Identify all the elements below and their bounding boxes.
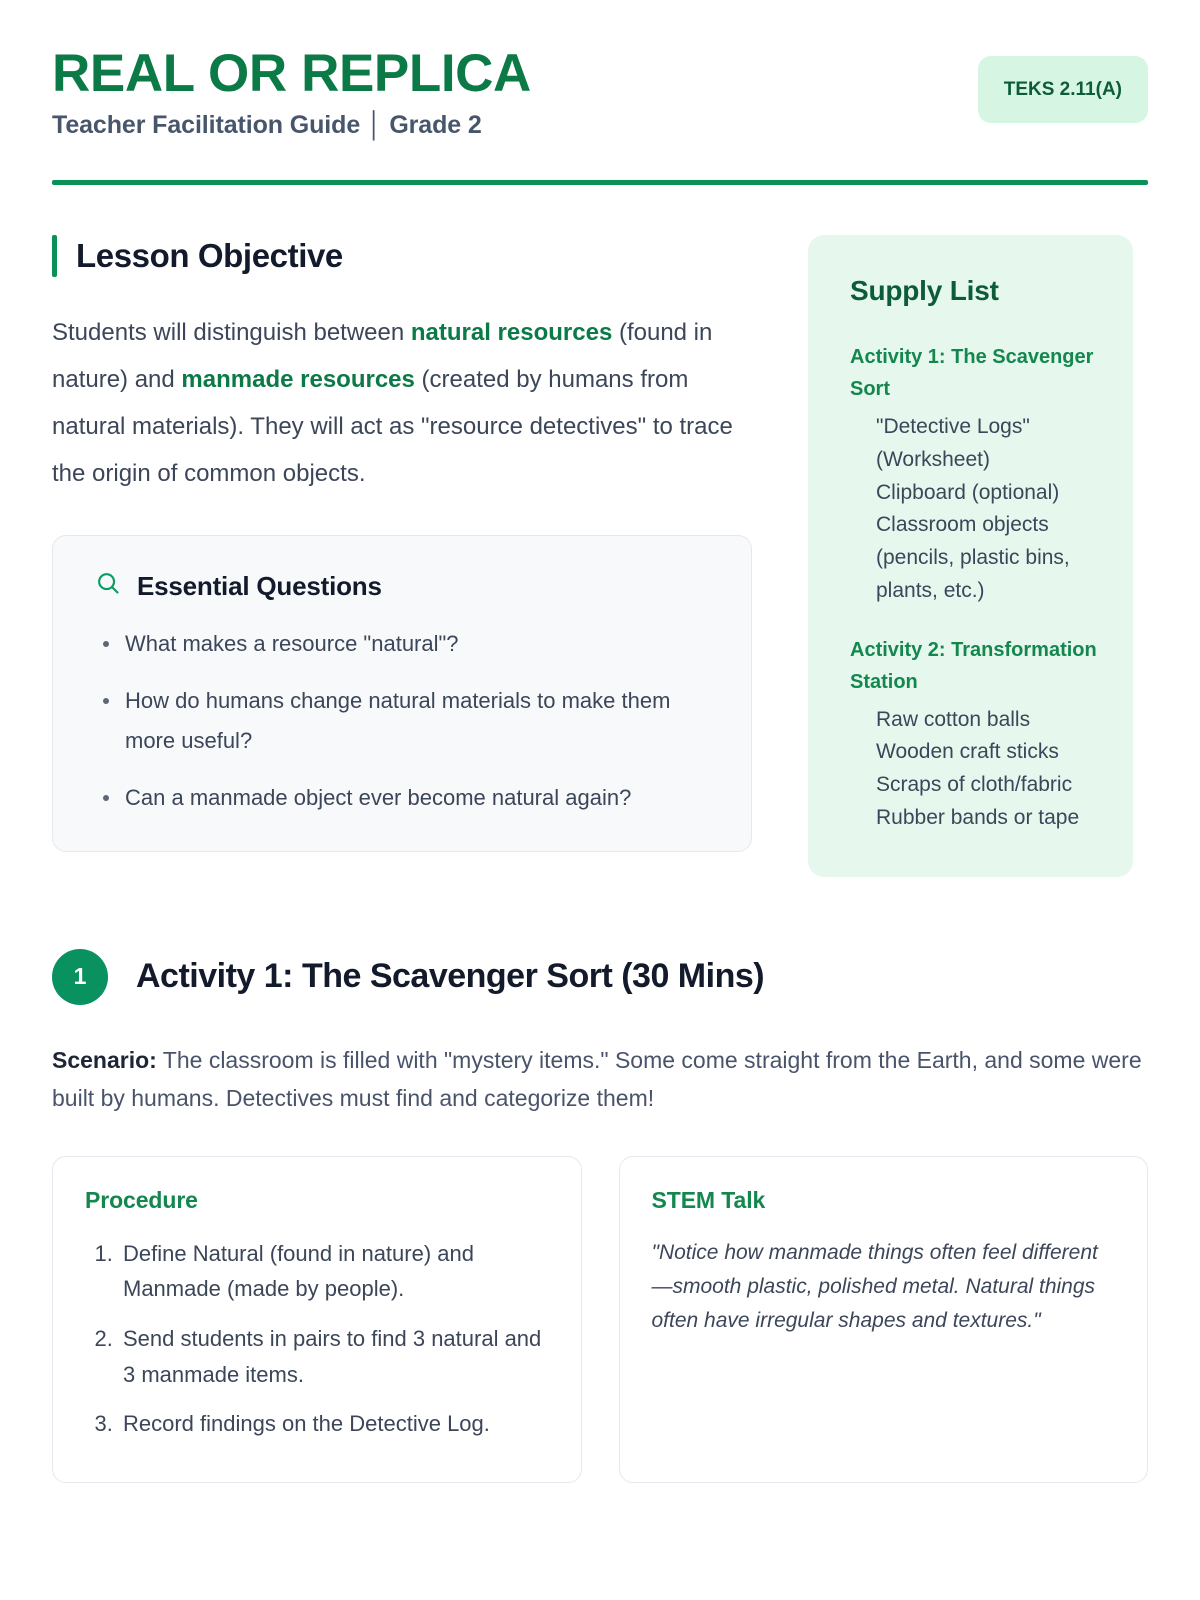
activity-1-header: 1 Activity 1: The Scavenger Sort (30 Min…: [52, 949, 1148, 1005]
supply-list-title: Supply List: [850, 275, 1103, 307]
document-page: REAL OR REPLICA Teacher Facilitation Gui…: [0, 0, 1200, 1600]
stem-talk-card: STEM Talk "Notice how manmade things oft…: [619, 1156, 1149, 1483]
stem-talk-quote: "Notice how manmade things often feel di…: [652, 1236, 1116, 1338]
list-item: Send students in pairs to find 3 natural…: [119, 1321, 549, 1392]
list-item: Classroom objects (pencils, plastic bins…: [876, 509, 1103, 607]
list-item: How do humans change natural materials t…: [125, 681, 715, 759]
activity-scenario: Scenario: The classroom is filled with "…: [52, 1041, 1148, 1118]
supply-list-card: Supply List Activity 1: The Scavenger So…: [808, 235, 1133, 877]
essential-questions-title: Essential Questions: [137, 571, 382, 602]
supply-group: Activity 1: The Scavenger Sort "Detectiv…: [850, 341, 1103, 608]
list-item: Can a manmade object ever become natural…: [125, 778, 715, 817]
essential-questions-header: Essential Questions: [95, 570, 715, 602]
stem-talk-title: STEM Talk: [652, 1187, 1116, 1214]
list-item: "Detective Logs" (Worksheet): [876, 411, 1103, 477]
search-icon: [95, 570, 122, 602]
supply-list-column: Supply List Activity 1: The Scavenger So…: [808, 235, 1133, 877]
objective-column: Lesson Objective Students will distingui…: [52, 235, 752, 852]
document-header: REAL OR REPLICA Teacher Facilitation Gui…: [52, 0, 1148, 140]
list-item: Rubber bands or tape: [876, 802, 1103, 835]
teks-standard-badge: TEKS 2.11(A): [978, 56, 1148, 123]
list-item: Define Natural (found in nature) and Man…: [119, 1236, 549, 1307]
page-subtitle: Teacher Facilitation Guide │ Grade 2: [52, 111, 531, 140]
lesson-objective-header: Lesson Objective: [52, 235, 752, 277]
essential-questions-list: What makes a resource "natural"? How do …: [95, 624, 715, 817]
essential-questions-card: Essential Questions What makes a resourc…: [52, 535, 752, 852]
supply-group-title: Activity 1: The Scavenger Sort: [850, 341, 1103, 405]
list-item: Clipboard (optional): [876, 477, 1103, 510]
top-section: Lesson Objective Students will distingui…: [52, 235, 1148, 877]
activity-1-title: Activity 1: The Scavenger Sort (30 Mins): [136, 957, 764, 996]
list-item: Scraps of cloth/fabric: [876, 769, 1103, 802]
list-item: Record findings on the Detective Log.: [119, 1406, 549, 1442]
procedure-title: Procedure: [85, 1187, 549, 1214]
activity-detail-cards: Procedure Define Natural (found in natur…: [52, 1156, 1148, 1483]
supply-group-items: Raw cotton balls Wooden craft sticks Scr…: [850, 704, 1103, 835]
supply-group-items: "Detective Logs" (Worksheet) Clipboard (…: [850, 411, 1103, 608]
supply-group-title: Activity 2: Transformation Station: [850, 634, 1103, 698]
list-item: Wooden craft sticks: [876, 736, 1103, 769]
supply-group: Activity 2: Transformation Station Raw c…: [850, 634, 1103, 835]
procedure-card: Procedure Define Natural (found in natur…: [52, 1156, 582, 1483]
scenario-label: Scenario:: [52, 1047, 157, 1073]
activity-number-badge: 1: [52, 949, 108, 1005]
accent-bar-icon: [52, 235, 57, 277]
list-item: Raw cotton balls: [876, 704, 1103, 737]
title-block: REAL OR REPLICA Teacher Facilitation Gui…: [52, 46, 531, 140]
list-item: What makes a resource "natural"?: [125, 624, 715, 663]
objective-text-1: Students will distinguish between: [52, 319, 411, 346]
scenario-text: The classroom is filled with "mystery it…: [52, 1047, 1142, 1112]
procedure-steps: Define Natural (found in nature) and Man…: [85, 1236, 549, 1442]
page-title: REAL OR REPLICA: [52, 46, 531, 101]
lesson-objective-title: Lesson Objective: [76, 237, 343, 275]
lesson-objective-text: Students will distinguish between natura…: [52, 309, 752, 497]
objective-term-manmade: manmade resources: [181, 366, 414, 393]
objective-term-natural: natural resources: [411, 319, 612, 346]
header-divider: [52, 180, 1148, 185]
